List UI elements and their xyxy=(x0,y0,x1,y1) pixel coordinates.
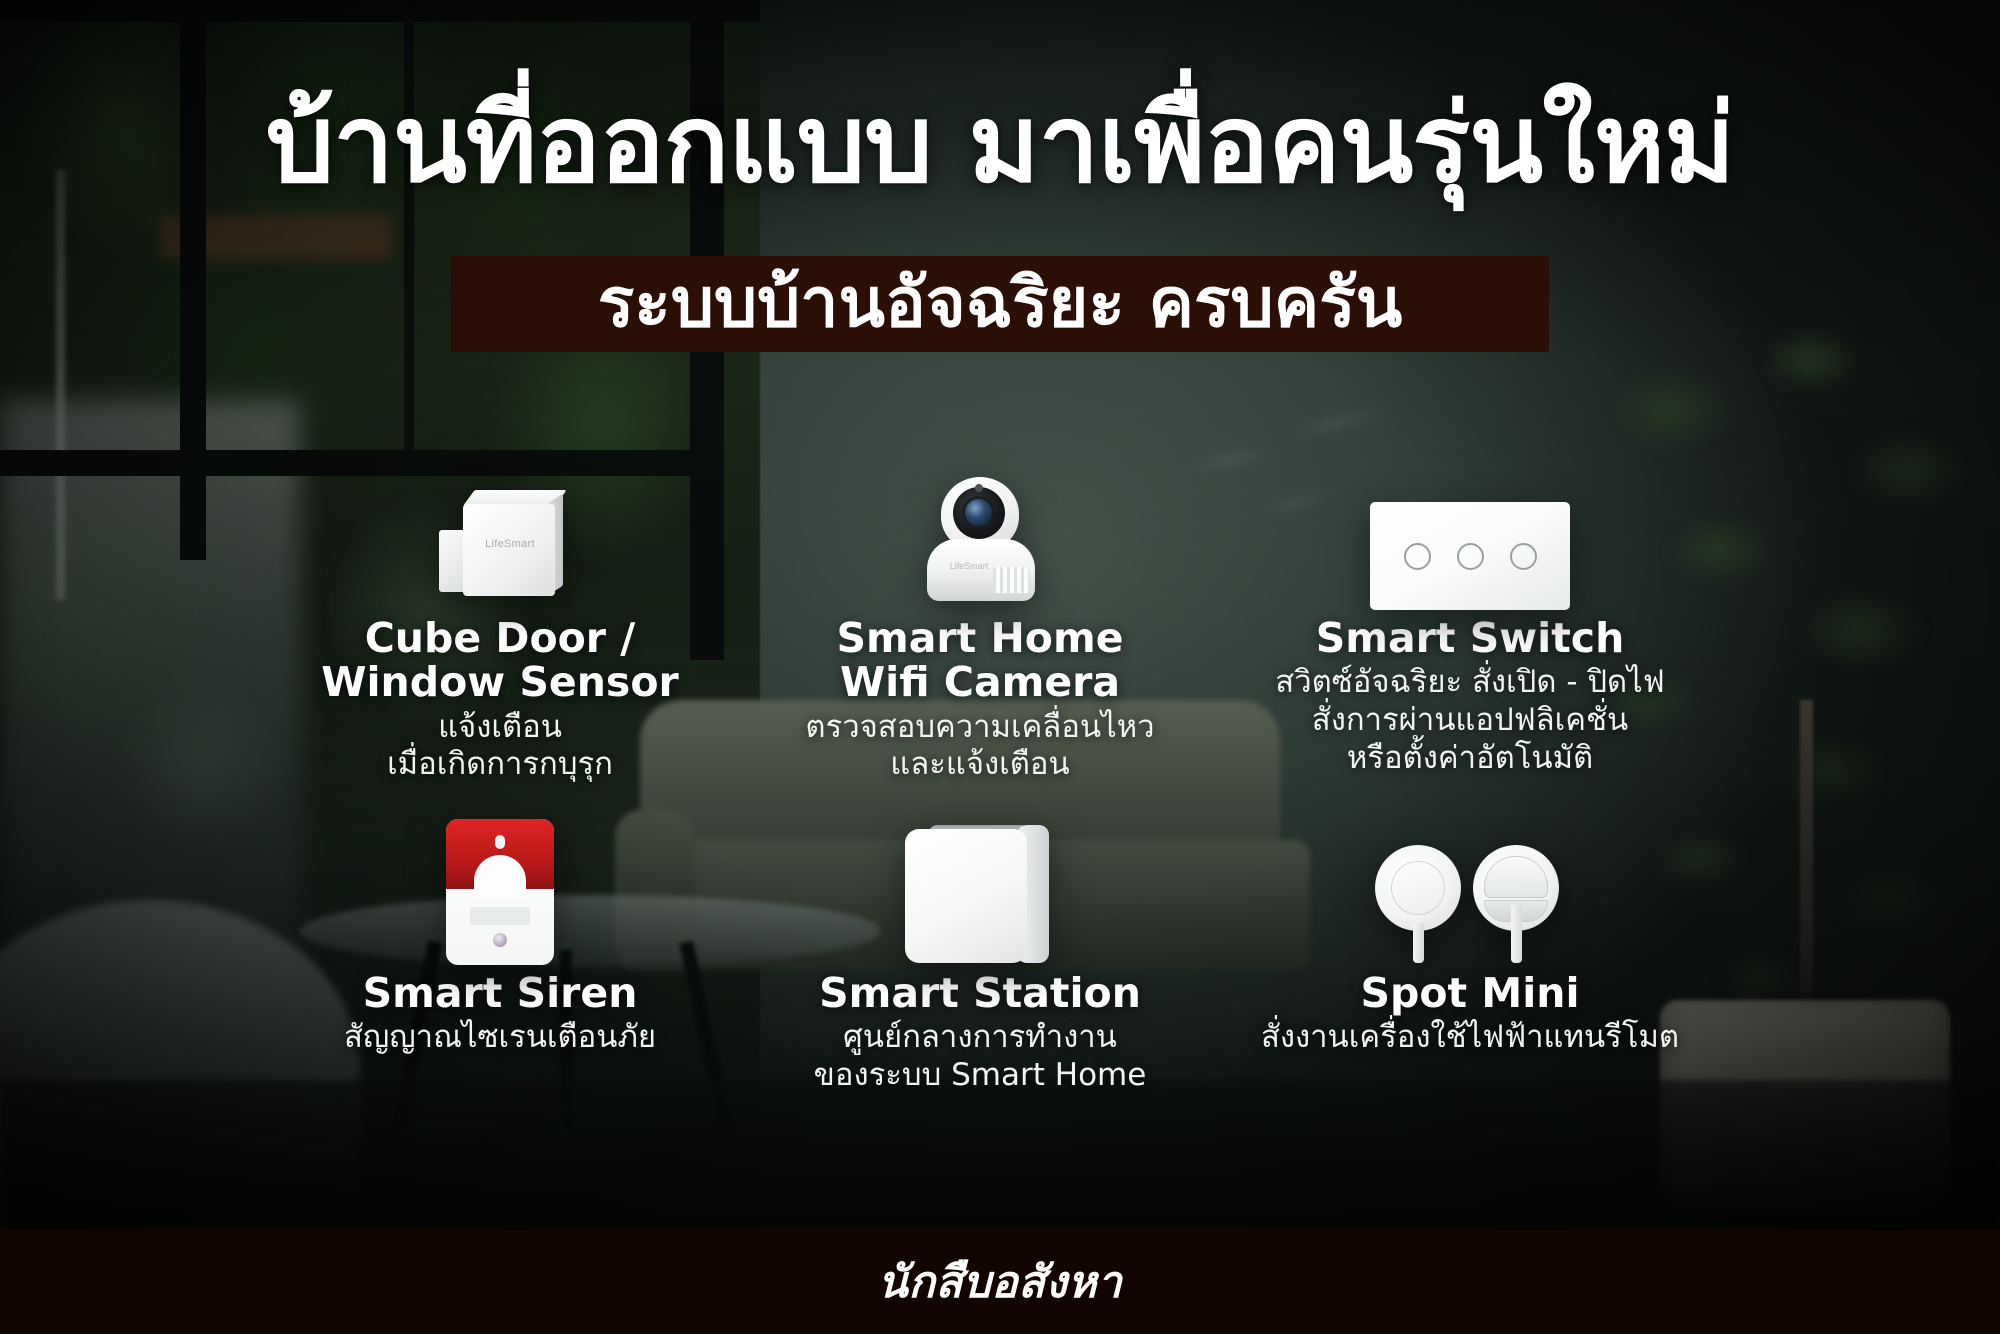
product-name: Smart Siren xyxy=(220,971,780,1015)
product-card-smart-home-wifi-camera[interactable]: LifeSmart Smart Home Wifi Camera ตรวจสอบ… xyxy=(700,460,1260,784)
siren-button xyxy=(493,933,507,947)
subtitle-text: ระบบบ้านอัจฉริยะ ครบครัน xyxy=(598,270,1402,338)
product-name: Spot Mini xyxy=(1190,971,1750,1015)
camera-lens xyxy=(965,499,992,526)
product-name: Cube Door / Window Sensor xyxy=(220,616,780,705)
spot-mini-front xyxy=(1375,845,1461,931)
switch-button-1 xyxy=(1404,543,1431,570)
switch-button-3 xyxy=(1510,543,1537,570)
product-name: Smart Home Wifi Camera xyxy=(700,616,1260,705)
siren-body xyxy=(446,819,554,965)
product-card-smart-station[interactable]: Smart Station ศูนย์กลางการทำงาน ของระบบ … xyxy=(700,815,1260,1095)
product-image-smart-station xyxy=(700,815,1260,965)
product-card-smart-siren[interactable]: Smart Siren สัญญาณไซเรนเตือนภัย xyxy=(220,815,780,1057)
product-description: ตรวจสอบความเคลื่อนไหว และแจ้งเตือน xyxy=(700,709,1260,785)
siren-label-plate xyxy=(470,907,530,925)
smart-siren-icon xyxy=(446,819,554,965)
switch-button-2 xyxy=(1457,543,1484,570)
switch-panel xyxy=(1370,502,1570,610)
product-image-smart-switch xyxy=(1190,460,1750,610)
product-image-smart-siren xyxy=(220,815,780,965)
lifesmart-logo-text: LifeSmart xyxy=(475,538,545,550)
product-description: สัญญาณไซเรนเตือนภัย xyxy=(220,1019,780,1057)
spot-mini-icon xyxy=(1375,845,1565,965)
product-image-cube-sensor: LifeSmart xyxy=(220,460,780,610)
smart-station-icon xyxy=(905,825,1055,965)
siren-led xyxy=(495,835,505,849)
product-name: Smart Switch xyxy=(1190,616,1750,660)
cube-sensor-front-face xyxy=(463,504,555,596)
product-card-cube-door-window-sensor[interactable]: LifeSmart Cube Door / Window Sensor แจ้ง… xyxy=(220,460,780,784)
camera-ir-sensor xyxy=(975,484,983,492)
product-image-spot-mini xyxy=(1190,815,1750,965)
product-description: แจ้งเตือน เมื่อเกิดการกบุรุก xyxy=(220,709,780,785)
smart-switch-icon xyxy=(1370,502,1570,610)
product-card-spot-mini[interactable]: Spot Mini สั่งงานเครื่องใช้ไฟฟ้าแทนรีโมต xyxy=(1190,815,1750,1057)
product-grid: LifeSmart Cube Door / Window Sensor แจ้ง… xyxy=(0,440,2000,1200)
wifi-camera-icon: LifeSmart xyxy=(915,475,1045,610)
subtitle-banner: ระบบบ้านอัจฉริยะ ครบครัน xyxy=(451,256,1549,352)
product-image-wifi-camera: LifeSmart xyxy=(700,460,1260,610)
station-front-face xyxy=(905,829,1027,963)
lifesmart-logo-text: LifeSmart xyxy=(939,561,999,571)
cube-sensor-icon: LifeSmart xyxy=(435,480,565,610)
smart-home-promo-poster: บ้านที่ออกแบบ มาเพื่อคนรุ่นใหม่ ระบบบ้าน… xyxy=(0,0,2000,1334)
spot-mini-cable-back xyxy=(1511,905,1522,963)
product-name: Smart Station xyxy=(700,971,1260,1015)
spot-mini-cable-front xyxy=(1413,923,1424,963)
siren-horn-notch xyxy=(474,855,526,899)
footer-bar: นักสืบอสังหา xyxy=(0,1230,2000,1334)
page-title: บ้านที่ออกแบบ มาเพื่อคนรุ่นใหม่ xyxy=(0,88,2000,202)
product-description: ศูนย์กลางการทำงาน ของระบบ Smart Home xyxy=(700,1019,1260,1095)
product-description: สั่งงานเครื่องใช้ไฟฟ้าแทนรีโมต xyxy=(1190,1019,1750,1057)
product-description: สวิตซ์อัจฉริยะ สั่งเปิด - ปิดไฟ สั่งการผ… xyxy=(1190,664,1750,777)
product-card-smart-switch[interactable]: Smart Switch สวิตซ์อัจฉริยะ สั่งเปิด - ป… xyxy=(1190,460,1750,778)
footer-brand: นักสืบอสังหา xyxy=(878,1247,1122,1317)
